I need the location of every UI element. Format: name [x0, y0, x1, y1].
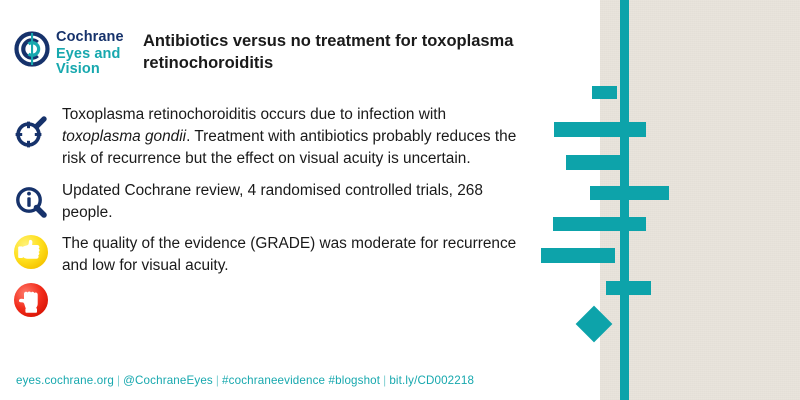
forest-plot-bar [592, 86, 617, 99]
footer-separator: | [114, 374, 123, 387]
thumb-down-red-icon [0, 281, 62, 317]
footer-website[interactable]: eyes.cochrane.org [16, 374, 114, 387]
list-item [0, 281, 540, 317]
forest-plot-bar [541, 248, 615, 263]
thumb-sideways-yellow-icon [0, 233, 62, 269]
footer-twitter-handle[interactable]: @CochraneEyes [123, 374, 213, 387]
forest-plot-bar [590, 186, 669, 200]
bullet-list: Toxoplasma retinochoroiditis occurs due … [0, 104, 540, 327]
logo-text-eyes-and-vision: Eyes and Vision [56, 47, 134, 76]
forest-plot-bar [566, 155, 628, 170]
blogshot-canvas: Cochrane Eyes and Vision Antibiotics ver… [0, 0, 800, 400]
footer-hashtags[interactable]: #cochraneevidence #blogshot [222, 374, 380, 387]
crosshair-target-icon [0, 104, 62, 150]
list-item-text: The quality of the evidence (GRADE) was … [62, 233, 540, 277]
list-item: Updated Cochrane review, 4 randomised co… [0, 180, 540, 224]
list-item-text: Updated Cochrane review, 4 randomised co… [62, 180, 540, 224]
forest-plot-bar [553, 217, 646, 231]
bullet-1-text-before: Toxoplasma retinochoroiditis occurs due … [62, 106, 446, 123]
forest-plot-summary-diamond [576, 306, 613, 343]
footer-shortlink[interactable]: bit.ly/CD002218 [389, 374, 474, 387]
footer-links: eyes.cochrane.org|@CochraneEyes|#cochran… [16, 374, 474, 387]
grade-low-badge [14, 283, 48, 317]
forest-plot-bar [606, 281, 651, 295]
forest-plot-vertical-line [620, 0, 629, 400]
cochrane-circle-logo-icon [14, 31, 50, 67]
info-magnifier-icon [0, 180, 62, 220]
list-item: The quality of the evidence (GRADE) was … [0, 233, 540, 277]
cochrane-eyes-and-vision-logo: Cochrane Eyes and Vision [14, 28, 134, 72]
logo-text-cochrane: Cochrane [56, 30, 124, 45]
page-title: Antibiotics versus no treatment for toxo… [143, 31, 543, 75]
list-item-text: Toxoplasma retinochoroiditis occurs due … [62, 104, 540, 170]
bullet-1-text-italic: toxoplasma gondii [62, 128, 186, 145]
forest-plot-bar [554, 122, 646, 137]
footer-separator: | [213, 374, 222, 387]
footer-separator: | [380, 374, 389, 387]
grade-moderate-badge [14, 235, 48, 269]
forest-plot-decoration [540, 0, 670, 400]
list-item: Toxoplasma retinochoroiditis occurs due … [0, 104, 540, 170]
